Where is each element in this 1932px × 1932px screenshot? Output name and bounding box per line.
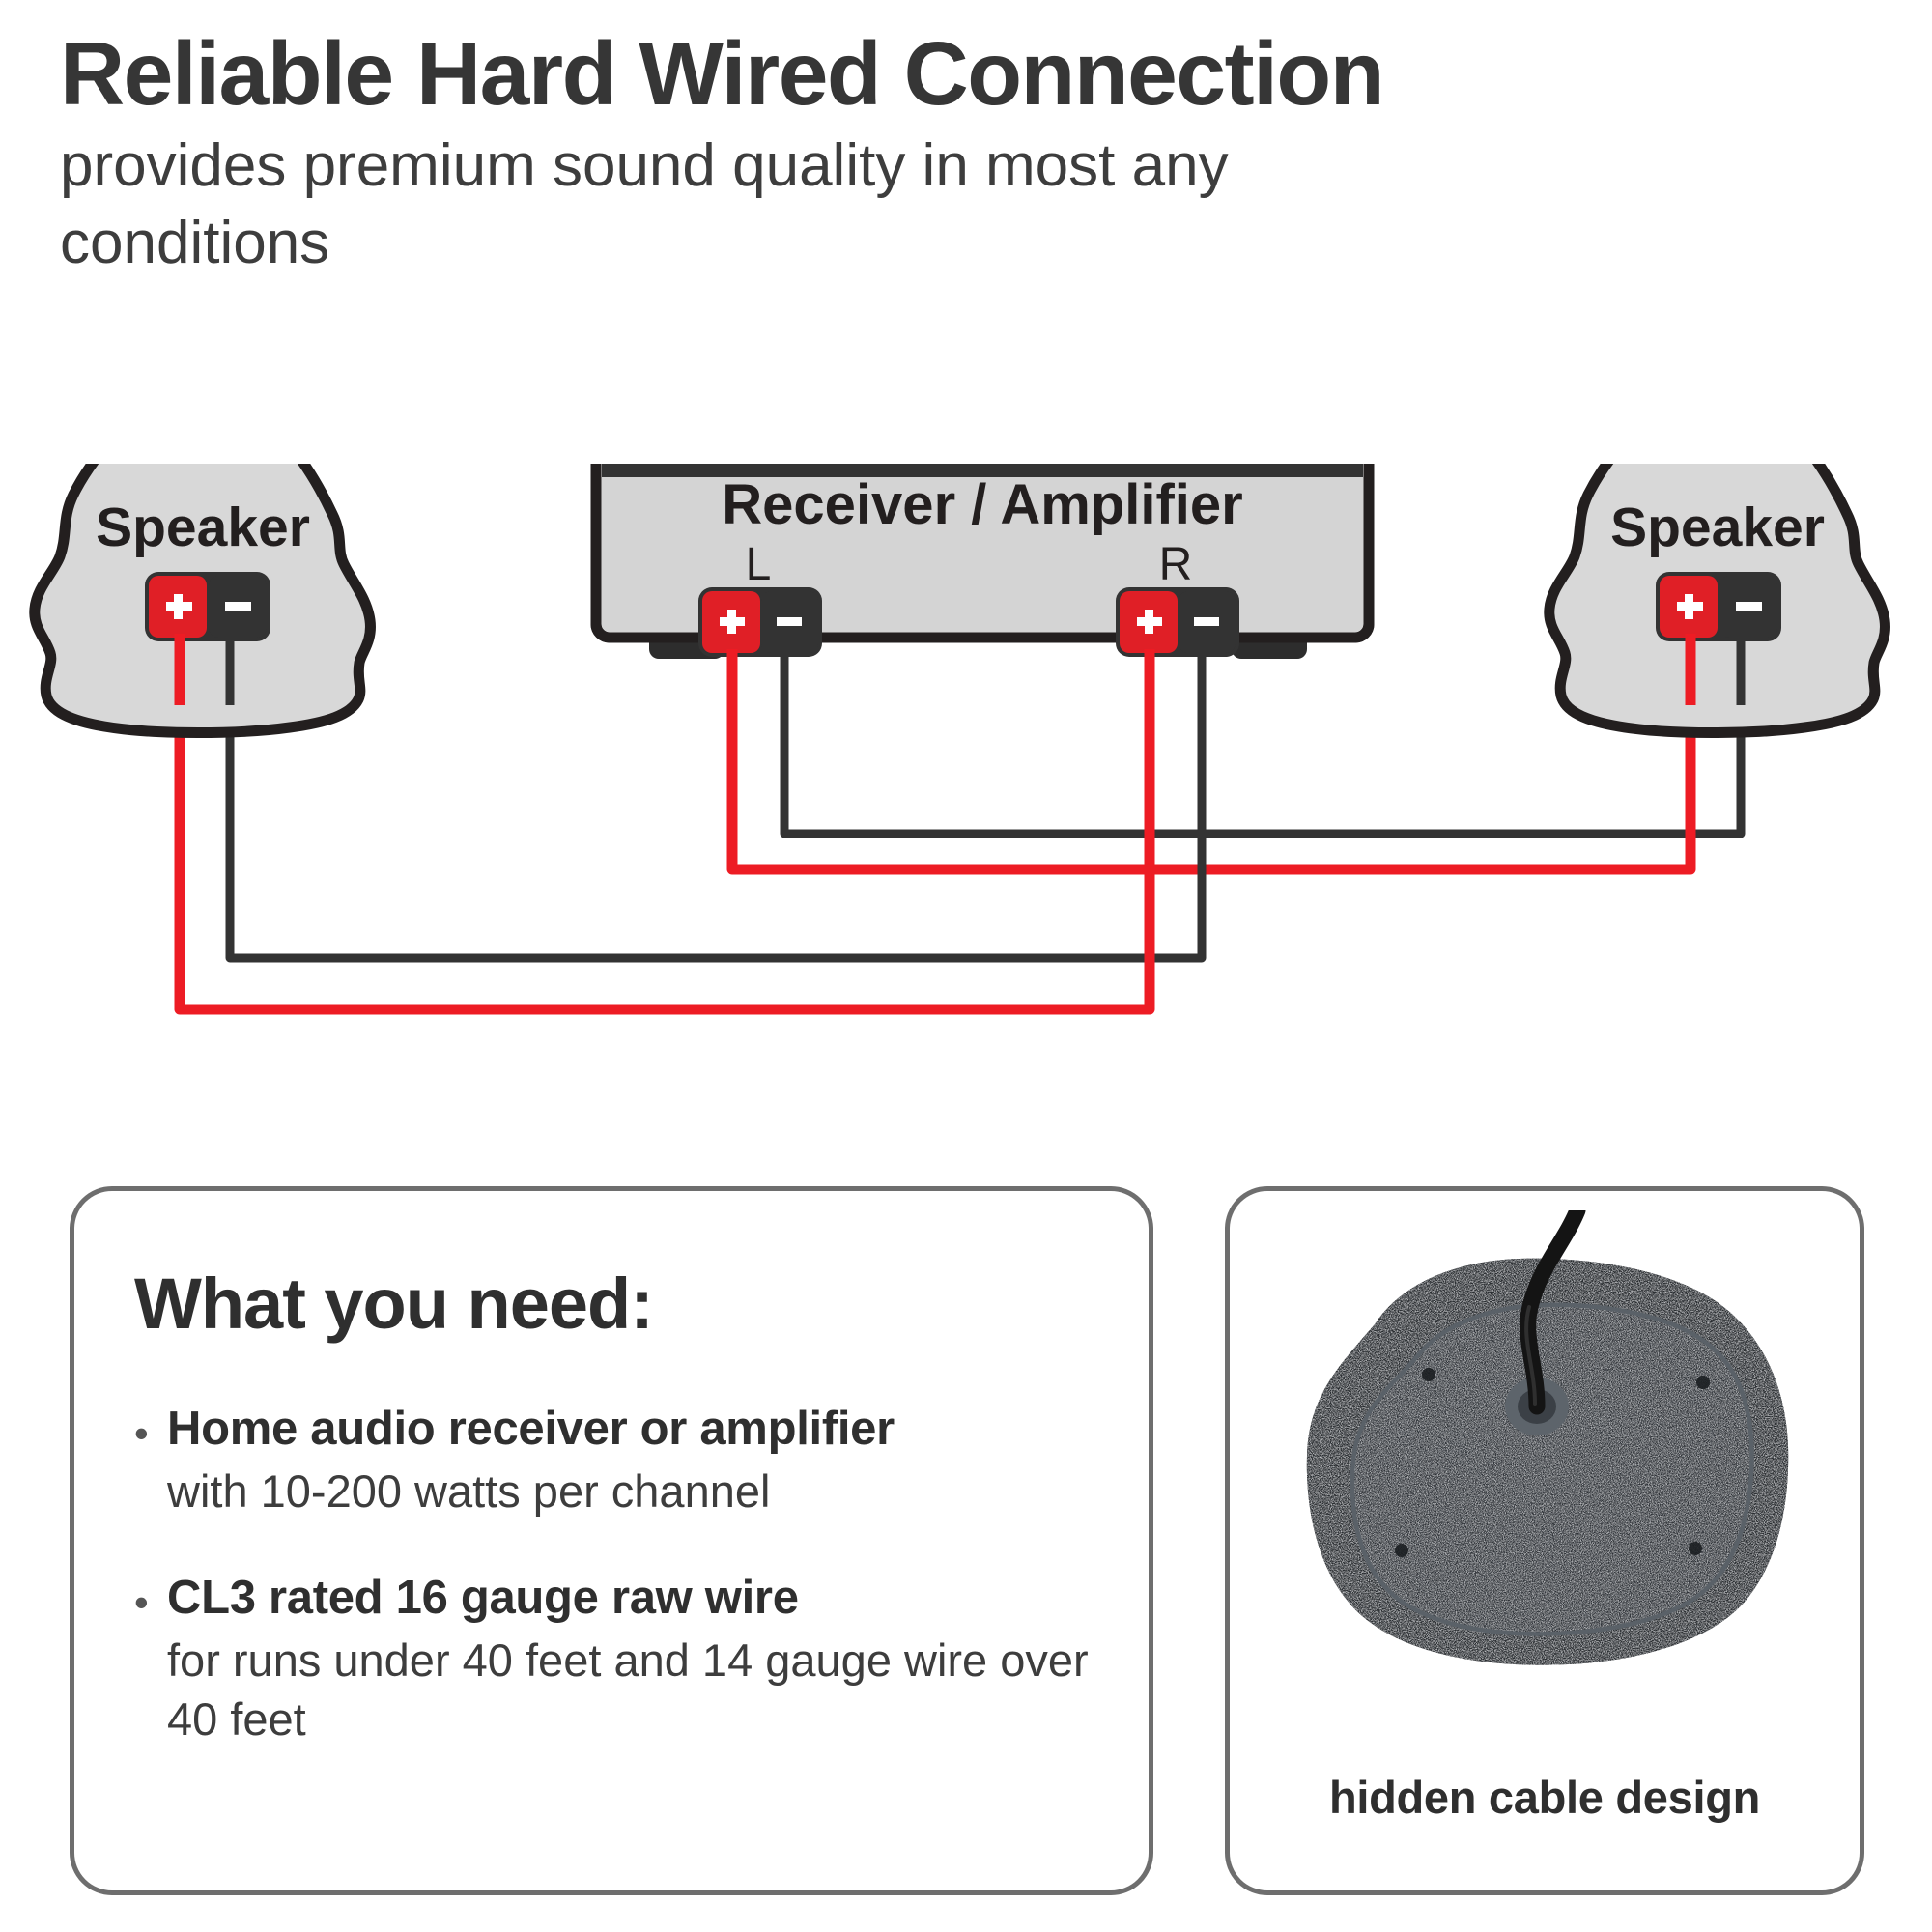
list-item-title: CL3 rated 16 gauge raw wire	[167, 1571, 799, 1627]
header: Reliable Hard Wired Connection provides …	[60, 25, 1876, 281]
list-item-detail: for runs under 40 feet and 14 gauge wire…	[167, 1627, 1110, 1748]
wire-stubs	[180, 634, 1741, 715]
receiver-amplifier: Receiver / Amplifier L R	[596, 464, 1369, 659]
screw-dimple	[1696, 1376, 1710, 1389]
bullet-icon: •	[134, 1402, 167, 1454]
screw-dimple	[1395, 1544, 1408, 1557]
bullet-icon: •	[134, 1571, 167, 1623]
wire-black-R-to-left-speaker	[230, 638, 1202, 958]
left-speaker-label: Speaker	[96, 497, 310, 558]
list-item: • Home audio receiver or amplifier with …	[134, 1402, 1110, 1520]
channel-label-L: L	[746, 539, 772, 590]
receiver-L-terminal-block	[698, 587, 822, 657]
list-item-detail: with 10-200 watts per channel	[167, 1458, 1110, 1520]
list-item-title: Home audio receiver or amplifier	[167, 1402, 895, 1458]
screw-dimple	[1689, 1542, 1702, 1555]
left-speaker: Speaker	[35, 464, 371, 733]
cards-row: What you need: • Home audio receiver or …	[0, 1186, 1932, 1901]
page-subtitle: provides premium sound quality in most a…	[60, 128, 1316, 281]
hidden-cable-design-card: hidden cable design	[1225, 1186, 1864, 1895]
page-title: Reliable Hard Wired Connection	[60, 25, 1876, 122]
what-you-need-card: What you need: • Home audio receiver or …	[70, 1186, 1153, 1895]
wire-group	[180, 638, 1741, 1009]
what-you-need-heading: What you need:	[134, 1263, 653, 1345]
list-item: • CL3 rated 16 gauge raw wire for runs u…	[134, 1571, 1110, 1748]
screw-dimple	[1422, 1368, 1435, 1381]
left-speaker-terminal-block	[145, 572, 270, 641]
receiver-R-terminal-block	[1116, 587, 1239, 657]
right-speaker: Speaker	[1549, 464, 1886, 733]
channel-label-R: R	[1159, 539, 1193, 590]
right-speaker-terminal-block	[1656, 572, 1781, 641]
photo-caption: hidden cable design	[1230, 1771, 1860, 1824]
rock-speaker-underside-photo	[1259, 1210, 1838, 1751]
wiring-diagram: Speaker Receiver / Amplifier L R	[0, 464, 1932, 1140]
right-speaker-label: Speaker	[1610, 497, 1825, 558]
receiver-label: Receiver / Amplifier	[722, 473, 1242, 536]
what-you-need-list: • Home audio receiver or amplifier with …	[134, 1402, 1110, 1748]
